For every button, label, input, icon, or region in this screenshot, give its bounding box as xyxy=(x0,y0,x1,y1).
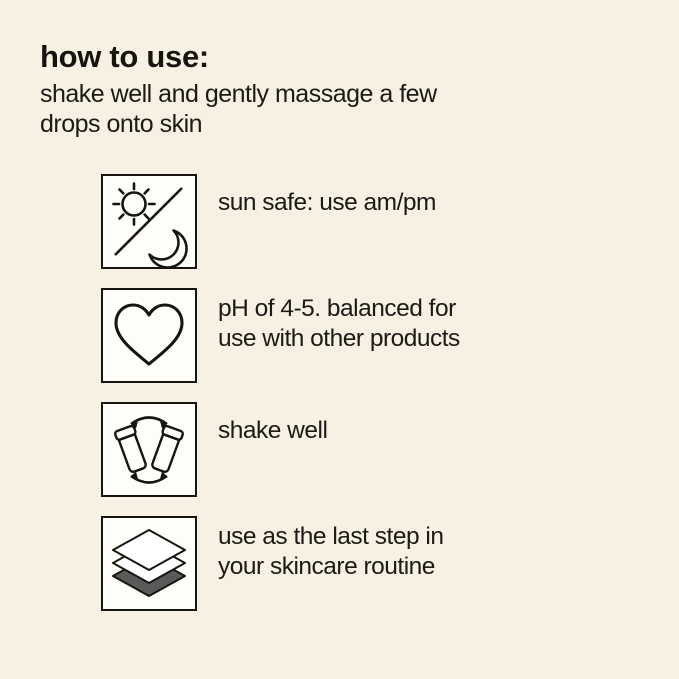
list-item: shake well xyxy=(101,402,641,516)
list-item-text: shake well xyxy=(218,402,327,446)
list-item-line-1: sun safe: use am/pm xyxy=(218,188,436,218)
list-item: use as the last step in your skincare ro… xyxy=(101,516,641,630)
shake-bottles-icon xyxy=(103,404,195,495)
list-item-text: use as the last step in your skincare ro… xyxy=(218,516,443,582)
icon-box-last-step xyxy=(101,516,197,611)
icon-box-shake-well xyxy=(101,402,197,497)
sun-moon-icon xyxy=(103,176,195,267)
page-title: how to use: xyxy=(40,40,639,75)
list-item-text: sun safe: use am/pm xyxy=(218,174,436,218)
list-item-line-2: use with other products xyxy=(218,324,460,354)
page-subtitle: shake well and gently massage a few drop… xyxy=(40,79,560,140)
list-item-line-1: use as the last step in xyxy=(218,522,443,552)
icon-box-ph-balanced xyxy=(101,288,197,383)
subtitle-line-1: shake well and gently massage a few xyxy=(40,79,560,110)
list-item-line-1: pH of 4-5. balanced for xyxy=(218,294,460,324)
list-item: sun safe: use am/pm xyxy=(101,174,641,288)
list-item-line-2: your skincare routine xyxy=(218,552,443,582)
list-item: pH of 4-5. balanced for use with other p… xyxy=(101,288,641,402)
layers-icon xyxy=(103,518,195,609)
list-item-line-1: shake well xyxy=(218,416,327,446)
how-to-use-panel: how to use: shake well and gently massag… xyxy=(0,0,679,679)
icon-box-sun-safe xyxy=(101,174,197,269)
instruction-list: sun safe: use am/pm pH of 4-5. balanced … xyxy=(101,174,641,630)
heart-icon xyxy=(103,290,195,381)
subtitle-line-2: drops onto skin xyxy=(40,109,560,140)
list-item-text: pH of 4-5. balanced for use with other p… xyxy=(218,288,460,354)
